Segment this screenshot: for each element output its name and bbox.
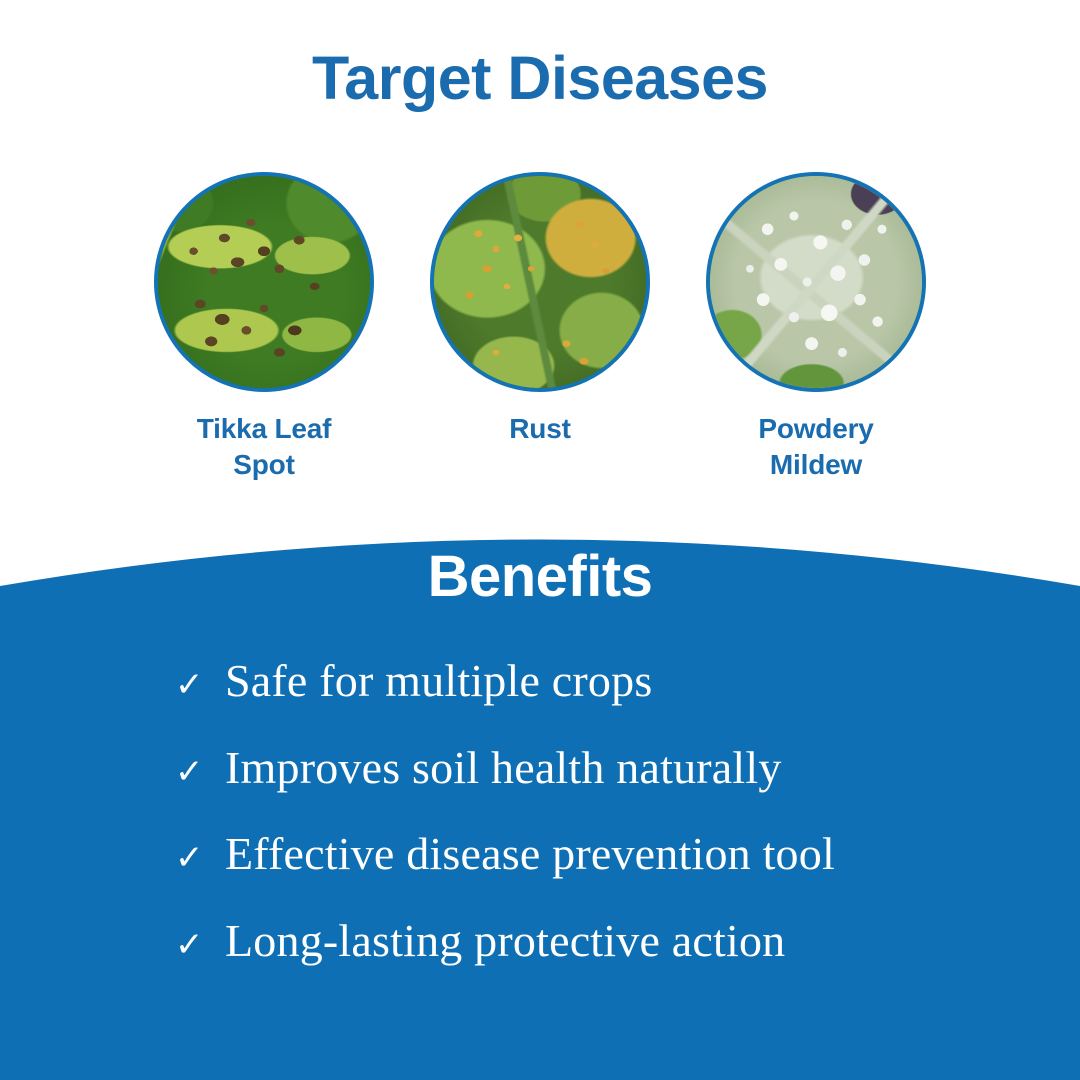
disease-image-frame: [430, 172, 650, 392]
benefit-item-1: ✓ Safe for multiple crops: [175, 655, 1080, 707]
tikka-leaf-spot-photo: [154, 172, 374, 392]
benefit-text-1: Safe for multiple crops: [225, 655, 652, 707]
disease-card-rust[interactable]: Rust: [430, 172, 650, 447]
benefit-text-4: Long-lasting protective action: [225, 915, 785, 967]
disease-label-tikka-leaf-spot: Tikka Leaf Spot: [197, 411, 331, 482]
disease-list: Tikka Leaf Spot Rust Powdery Mildew: [0, 172, 1080, 492]
disease-image-frame: [706, 172, 926, 392]
benefit-item-2: ✓ Improves soil health naturally: [175, 742, 1080, 794]
check-icon: ✓: [175, 928, 203, 962]
benefit-item-4: ✓ Long-lasting protective action: [175, 915, 1080, 967]
benefits-heading: Benefits: [0, 548, 1080, 606]
benefit-text-3: Effective disease prevention tool: [225, 828, 835, 880]
target-diseases-section: Target Diseases Tikka Leaf Spot Rust Pow…: [0, 0, 1080, 540]
disease-card-tikka-leaf-spot[interactable]: Tikka Leaf Spot: [154, 172, 374, 482]
poster-canvas: Target Diseases Tikka Leaf Spot Rust Pow…: [0, 0, 1080, 1080]
disease-image-frame: [154, 172, 374, 392]
disease-label-powdery-mildew: Powdery Mildew: [758, 411, 873, 482]
check-icon: ✓: [175, 755, 203, 789]
benefit-text-2: Improves soil health naturally: [225, 742, 782, 794]
benefits-list: ✓ Safe for multiple crops ✓ Improves soi…: [0, 655, 1080, 966]
disease-card-powdery-mildew[interactable]: Powdery Mildew: [706, 172, 926, 482]
check-icon: ✓: [175, 668, 203, 702]
page-title: Target Diseases: [0, 48, 1080, 109]
powdery-mildew-photo: [706, 172, 926, 392]
check-icon: ✓: [175, 841, 203, 875]
benefit-item-3: ✓ Effective disease prevention tool: [175, 828, 1080, 880]
rust-photo: [430, 172, 650, 392]
disease-label-rust: Rust: [509, 411, 570, 447]
